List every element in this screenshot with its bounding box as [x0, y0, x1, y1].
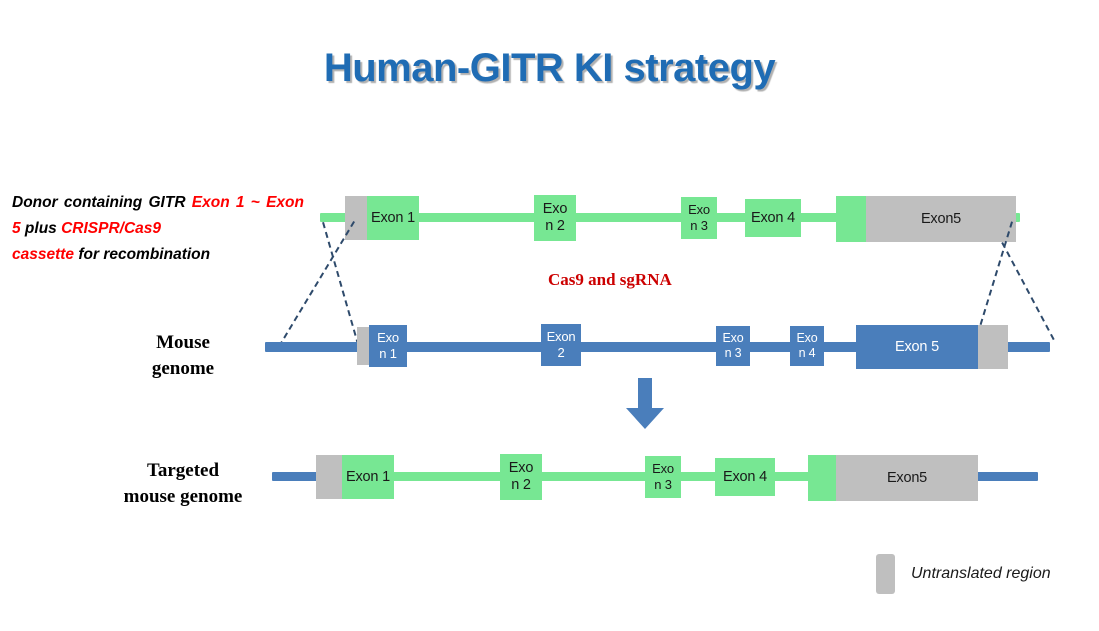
- slide-canvas: Human-GITR KI strategy Donor containing …: [0, 0, 1099, 631]
- donor-exon-3[interactable]: Exo n 3: [681, 197, 717, 239]
- mouse-exon-4-label-line1: Exo: [797, 331, 818, 346]
- donor-exon-5-label: Exon5: [921, 211, 961, 228]
- legend-label-utr: Untranslated region: [911, 565, 1051, 583]
- row-label-mouse-genome: Mouse genome: [108, 330, 258, 382]
- donor-exon-2-label-line1: Exo: [543, 201, 567, 218]
- mouse-exon-3-label-line1: Exo: [723, 331, 744, 346]
- donor-exon-3-label-line1: Exo: [688, 202, 710, 218]
- targeted-exon-2-label-line2: n 2: [511, 477, 531, 494]
- targeted-exon-3[interactable]: Exo n 3: [645, 456, 681, 498]
- targeted-exon-5-label: Exon5: [887, 470, 927, 487]
- mouse-exon-2-label-line2: 2: [557, 345, 564, 361]
- targeted-exon-5-coding[interactable]: [808, 455, 836, 501]
- mouse-exon-2-label-line1: Exon: [547, 329, 576, 345]
- row-label-targeted-line2: mouse genome: [124, 486, 243, 507]
- targeted-exon-5[interactable]: Exon5: [836, 455, 978, 501]
- donor-exon-1-label: Exon 1: [371, 210, 415, 227]
- row-label-mouse-line1: Mouse: [156, 332, 210, 353]
- donor-exon-5-coding[interactable]: [836, 196, 866, 242]
- legend: Untranslated region: [876, 554, 1051, 594]
- targeted-backbone-right: [970, 472, 1038, 481]
- page-title: Human-GITR KI strategy: [0, 46, 1099, 91]
- donor-exon-1[interactable]: Exon 1: [367, 196, 419, 240]
- mouse-exon-1[interactable]: Exo n 1: [369, 325, 407, 367]
- targeted-exon-1-label: Exon 1: [346, 469, 390, 486]
- targeted-exon-4[interactable]: Exon 4: [715, 458, 775, 496]
- row-label-targeted-genome: Targeted mouse genome: [88, 458, 278, 510]
- desc-lastline: cassette for recombination: [12, 242, 304, 268]
- mouse-exon-1-label-line2: n 1: [379, 346, 396, 362]
- mouse-utr-3prime: [978, 325, 1008, 369]
- desc-seg-4: plus: [21, 220, 61, 237]
- legend-swatch-utr: [876, 554, 895, 594]
- mouse-exon-1-label-line1: Exo: [377, 330, 399, 346]
- targeted-exon-4-label: Exon 4: [723, 469, 767, 486]
- mouse-exon-5-label: Exon 5: [895, 339, 939, 356]
- targeted-exon-3-label-line2: n 3: [654, 477, 671, 493]
- desc-seg-2: Exon 1 ~: [192, 194, 260, 211]
- donor-exon-3-label-line2: n 3: [690, 218, 707, 234]
- targeted-exon-2[interactable]: Exo n 2: [500, 454, 542, 500]
- targeted-exon-2-label-line1: Exo: [509, 460, 533, 477]
- donor-exon-4[interactable]: Exon 4: [745, 199, 801, 237]
- targeted-exon-1[interactable]: Exon 1: [342, 455, 394, 499]
- donor-exon-2-label-line2: n 2: [545, 218, 565, 235]
- mouse-exon-3-label-line2: n 3: [725, 346, 742, 361]
- row-label-targeted-line1: Targeted: [147, 460, 219, 481]
- donor-exon-4-label: Exon 4: [751, 210, 795, 227]
- mouse-exon-2[interactable]: Exon 2: [541, 324, 581, 366]
- cas9-sgrna-annotation: Cas9 and sgRNA: [548, 270, 672, 290]
- mouse-exon-4[interactable]: Exo n 4: [790, 326, 824, 366]
- mouse-exon-5[interactable]: Exon 5: [856, 325, 978, 369]
- desc-seg-7: for recombination: [74, 246, 210, 263]
- crossover-right-line-b: [1001, 242, 1054, 340]
- donor-exon-2[interactable]: Exo n 2: [534, 195, 576, 241]
- desc-seg-6: cassette: [12, 246, 74, 263]
- mouse-utr-5prime: [357, 327, 369, 365]
- targeted-exon-3-label-line1: Exo: [652, 461, 674, 477]
- targeted-utr-5prime: [316, 455, 342, 499]
- donor-utr-5prime: [345, 196, 367, 240]
- desc-seg-5: CRISPR/Cas9: [61, 220, 161, 237]
- donor-description: Donor containing GITR Exon 1 ~ Exon 5 pl…: [12, 190, 304, 268]
- donor-exon-5[interactable]: Exon5: [866, 196, 1016, 242]
- desc-seg-1: Donor containing GITR: [12, 194, 192, 211]
- mouse-exon-3[interactable]: Exo n 3: [716, 326, 750, 366]
- mouse-exon-4-label-line2: n 4: [799, 346, 816, 361]
- process-arrow-down: [623, 378, 667, 430]
- row-label-mouse-line2: genome: [152, 358, 214, 379]
